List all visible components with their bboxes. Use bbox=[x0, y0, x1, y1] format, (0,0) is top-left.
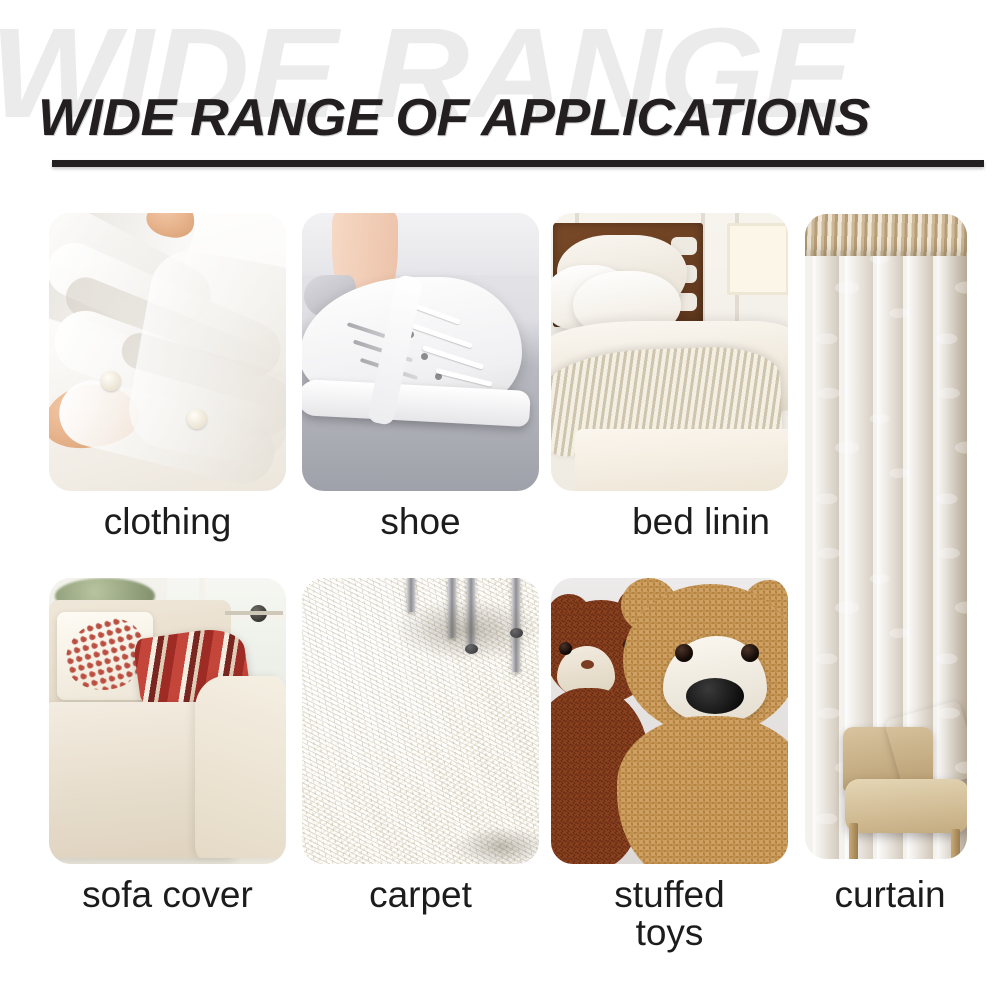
tile-label-shoe: shoe bbox=[302, 503, 539, 541]
page-title: WIDE RANGE OF APPLICATIONS bbox=[38, 92, 870, 144]
tile-image-clothing bbox=[49, 213, 286, 491]
tile-image-stuffed-toys bbox=[551, 578, 788, 864]
bed-skirt bbox=[575, 429, 788, 491]
tan-bear-eye-right bbox=[741, 644, 759, 662]
bed-wall-art bbox=[727, 223, 788, 295]
tile-label-carpet: carpet bbox=[302, 876, 539, 914]
brown-bear-eye-left bbox=[559, 642, 572, 655]
tan-bear-nose bbox=[686, 678, 744, 714]
tile-image-carpet bbox=[302, 578, 539, 864]
curtain-pleated-header-tape bbox=[805, 214, 967, 256]
tile-label-stuffed-toys-line1: stuffed bbox=[551, 876, 788, 914]
poster-header: WIDE RANGE WIDE RANGE OF APPLICATIONS bbox=[0, 0, 1000, 185]
tan-bear-body bbox=[617, 716, 788, 864]
carpet-corner-shadow bbox=[452, 826, 539, 864]
tile-label-stuffed-toys: stuffed toys bbox=[551, 876, 788, 951]
tile-image-bed-linen bbox=[551, 213, 788, 491]
tile-label-sofa-cover: sofa cover bbox=[40, 876, 295, 914]
armchair-leg-right bbox=[951, 829, 960, 859]
sofa-arm-drape bbox=[195, 676, 286, 858]
applications-poster: WIDE RANGE WIDE RANGE OF APPLICATIONS cl… bbox=[0, 0, 1000, 1000]
tile-image-sofa-cover bbox=[49, 578, 286, 864]
tile-label-stuffed-toys-line2: toys bbox=[551, 914, 788, 952]
title-underline-rule bbox=[52, 160, 984, 167]
brown-bear-nose bbox=[581, 660, 594, 669]
sofa-curtain-rod bbox=[225, 611, 283, 615]
tan-bear-eye-left bbox=[675, 644, 693, 662]
shoe-eyelet-3 bbox=[421, 353, 428, 360]
carpet-table-shadow bbox=[392, 598, 539, 662]
tile-image-curtain bbox=[805, 214, 967, 859]
clothing-button-2 bbox=[187, 409, 207, 429]
tile-label-curtain: curtain bbox=[790, 876, 990, 914]
clothing-button-1 bbox=[101, 371, 121, 391]
tile-label-clothing: clothing bbox=[49, 503, 286, 541]
armchair-seat bbox=[845, 779, 967, 833]
tile-image-shoe bbox=[302, 213, 539, 491]
armchair-leg-left bbox=[849, 823, 858, 859]
